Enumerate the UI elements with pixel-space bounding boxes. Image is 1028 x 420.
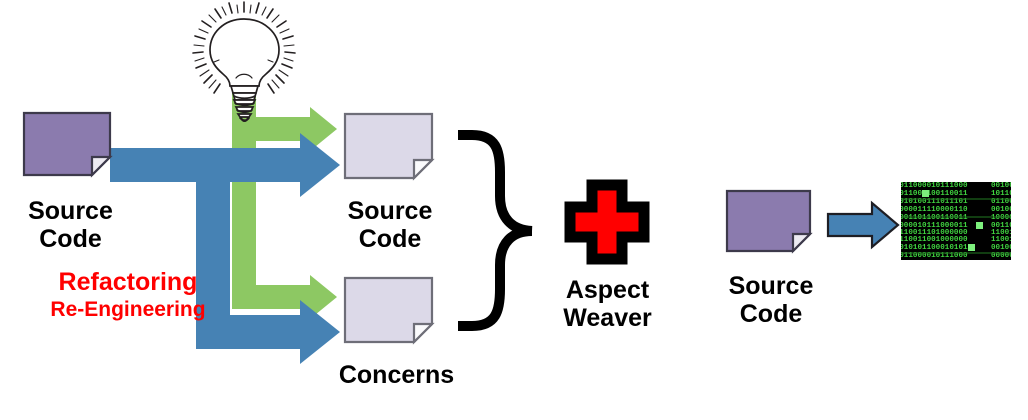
document-source-code-woven: [727, 191, 810, 251]
diagram-canvas: 1100110011001000000 0010010101100010101 …: [0, 0, 1028, 420]
document-concerns-output: [345, 278, 432, 342]
label-concerns-output: Concerns: [324, 361, 469, 389]
label-refactoring: Refactoring: [28, 268, 228, 296]
compile-arrow: [828, 203, 898, 247]
lightbulb-icon: [193, 2, 295, 121]
label-source-code-output: SourceCode: [330, 197, 450, 253]
label-aspect-weaver: AspectWeaver: [545, 276, 670, 332]
red-plus-icon: [570, 185, 644, 259]
binary-code-image: [901, 182, 1011, 260]
grouping-brace: [458, 135, 532, 326]
document-source-code-input: [24, 113, 110, 175]
label-source-code-input: SourceCode: [8, 197, 133, 253]
diagram-graphics: 1100110011001000000 0010010101100010101 …: [0, 0, 1028, 420]
blue-refactoring-arrow: [110, 133, 340, 364]
document-source-code-output: [345, 114, 432, 178]
label-source-code-woven: SourceCode: [711, 272, 831, 328]
label-re-engineering: Re-Engineering: [14, 298, 242, 322]
